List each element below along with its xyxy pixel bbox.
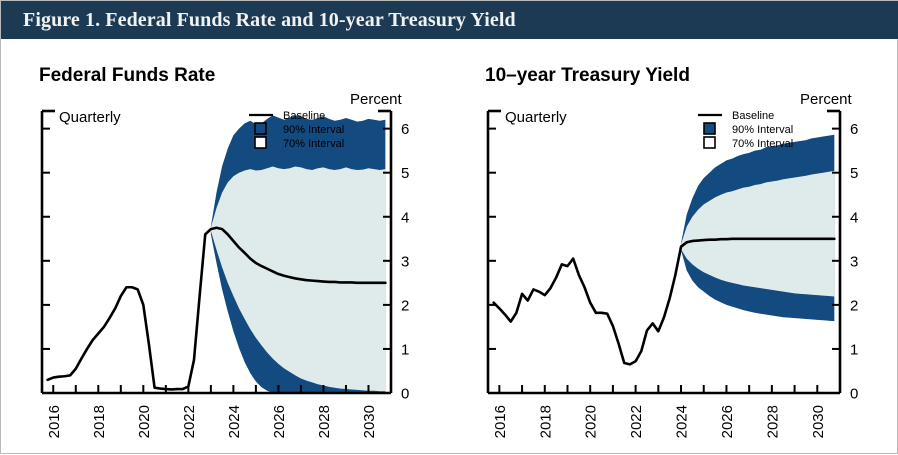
xtick-label-2024: 2024 <box>674 405 691 438</box>
xtick-label-2016: 2016 <box>492 405 509 438</box>
legend-label-70-interval: 70% Interval <box>283 138 344 150</box>
chart-legend: Baseline90% Interval70% Interval <box>249 110 344 150</box>
chart-panel-ten-year-treasury-yield: 10–year Treasury Yield Percent Quarterly… <box>450 39 898 455</box>
chart-panel-federal-funds-rate: Federal Funds Rate Percent Quarterly 012… <box>1 39 450 455</box>
legend-label-70-interval: 70% Interval <box>732 138 793 150</box>
ytick-label-0: 0 <box>850 386 858 403</box>
ytick-label-3: 3 <box>401 253 409 270</box>
ytick-label-6: 6 <box>850 121 858 138</box>
legend-swatch-70-interval <box>704 137 715 148</box>
ytick-label-4: 4 <box>850 209 858 226</box>
legend-label-baseline: Baseline <box>732 110 774 122</box>
xtick-label-2030: 2030 <box>361 405 378 438</box>
chart-svg-federal-funds-rate: 012345620162018202020222024202620282030B… <box>1 39 450 455</box>
ytick-label-3: 3 <box>850 253 858 270</box>
legend-label-90-interval: 90% Interval <box>732 124 793 136</box>
ytick-label-5: 5 <box>401 165 409 182</box>
xtick-label-2026: 2026 <box>271 405 288 438</box>
xtick-label-2018: 2018 <box>537 405 554 438</box>
ytick-label-5: 5 <box>850 165 858 182</box>
ytick-label-1: 1 <box>401 341 409 358</box>
legend-swatch-90-interval <box>255 123 266 134</box>
xtick-label-2020: 2020 <box>583 405 600 438</box>
xtick-label-2016: 2016 <box>46 405 63 438</box>
xtick-label-2028: 2028 <box>764 405 781 438</box>
xtick-label-2026: 2026 <box>719 405 736 438</box>
ytick-label-4: 4 <box>401 209 409 226</box>
chart-svg-ten-year-treasury-yield: 012345620162018202020222024202620282030B… <box>450 39 898 455</box>
legend-label-baseline: Baseline <box>283 110 325 122</box>
xtick-label-2024: 2024 <box>226 405 243 438</box>
xtick-label-2020: 2020 <box>136 405 153 438</box>
chart-legend: Baseline90% Interval70% Interval <box>698 110 793 150</box>
xtick-label-2030: 2030 <box>810 405 827 438</box>
figure-header-bar: Figure 1. Federal Funds Rate and 10-year… <box>1 1 898 39</box>
ytick-label-2: 2 <box>850 297 858 314</box>
figure-title: Figure 1. Federal Funds Rate and 10-year… <box>23 9 516 32</box>
xtick-label-2022: 2022 <box>628 405 645 438</box>
legend-swatch-70-interval <box>255 137 266 148</box>
xtick-label-2022: 2022 <box>181 405 198 438</box>
ytick-label-0: 0 <box>401 386 409 403</box>
ytick-label-6: 6 <box>401 121 409 138</box>
legend-swatch-90-interval <box>704 123 715 134</box>
xtick-label-2018: 2018 <box>91 405 108 438</box>
figure-root: Figure 1. Federal Funds Rate and 10-year… <box>0 0 898 454</box>
xtick-label-2028: 2028 <box>316 405 333 438</box>
ytick-label-1: 1 <box>850 341 858 358</box>
legend-label-90-interval: 90% Interval <box>283 124 344 136</box>
ytick-label-2: 2 <box>401 297 409 314</box>
